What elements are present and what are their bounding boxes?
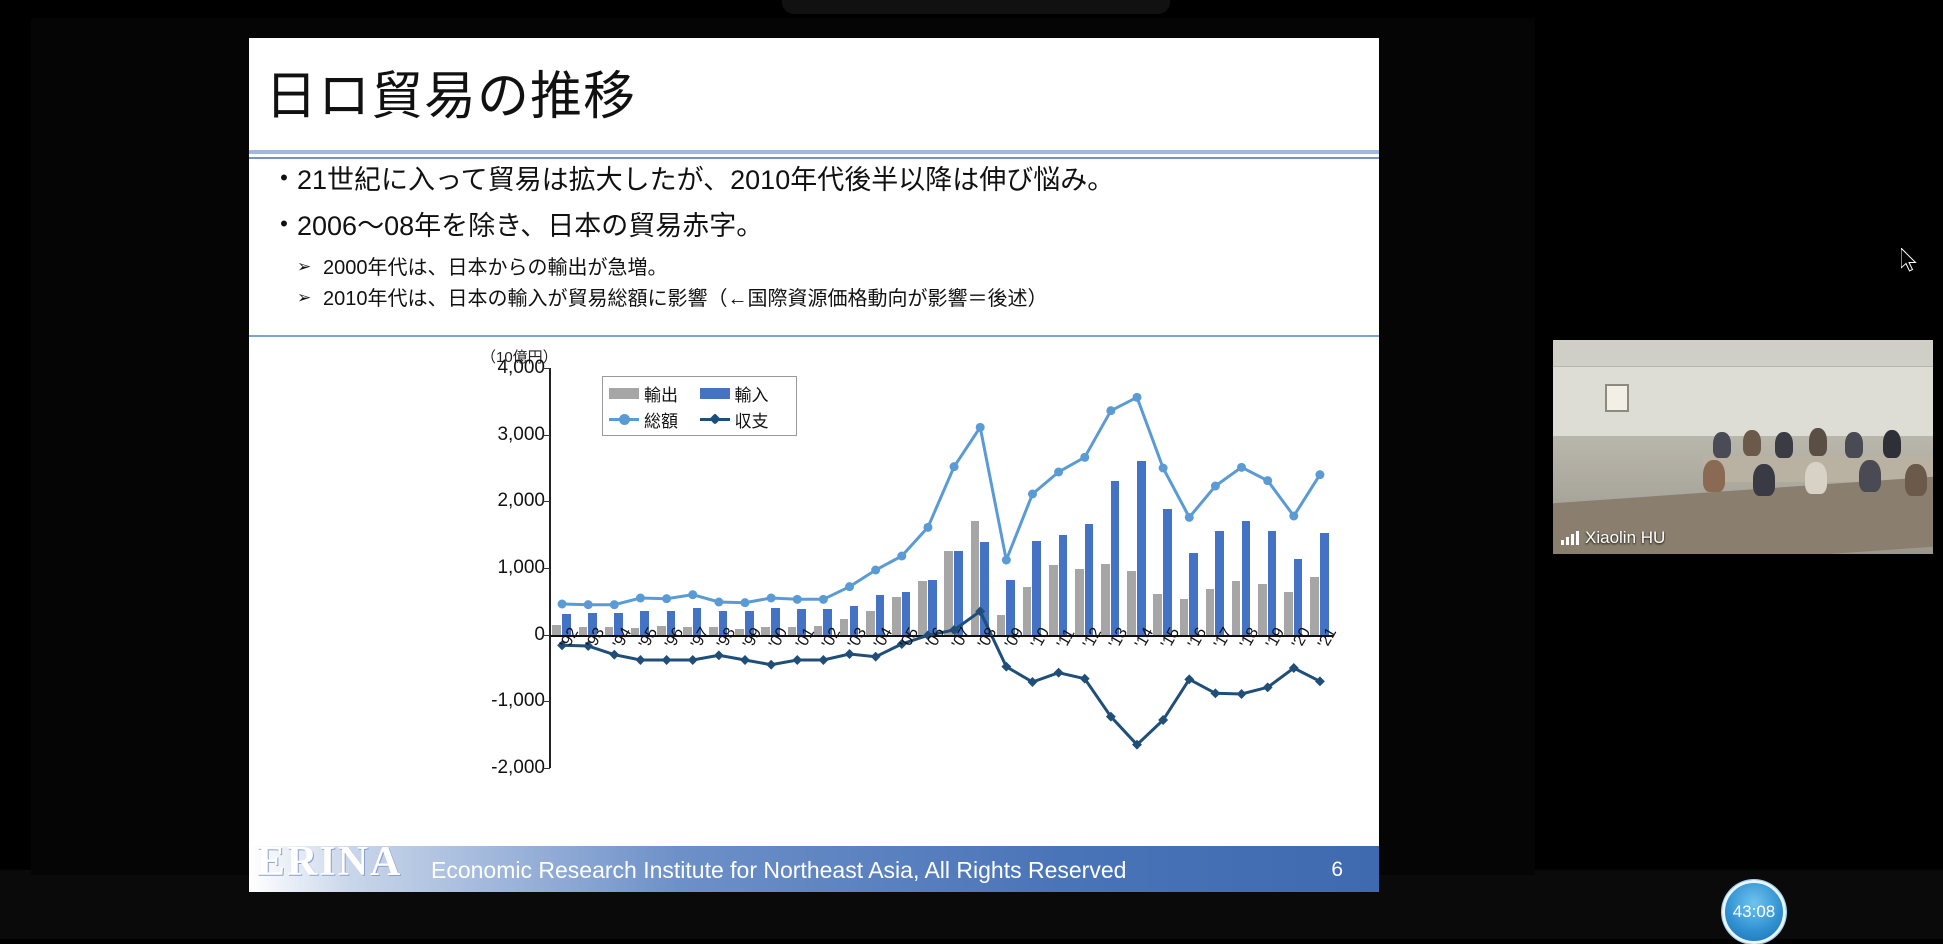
marker-総額: [976, 423, 985, 432]
footer-copyright: Economic Research Institute for Northeas…: [431, 857, 1126, 884]
wall-picture: [1605, 384, 1629, 412]
y-axis-tick-label: 4,000: [497, 357, 545, 379]
y-axis-tick: [543, 768, 550, 769]
meeting-toolbar-notch[interactable]: [782, 0, 1170, 14]
y-axis-tick-label: 1,000: [497, 557, 545, 579]
marker-総額: [1237, 463, 1246, 472]
marker-総額: [741, 598, 750, 607]
legend-swatch-icon: [700, 388, 730, 399]
shared-screen-panel[interactable]: 日ロ貿易の推移 • 21世紀に入って貿易は拡大したが、2010年代後半以降は伸び…: [31, 18, 1535, 875]
marker-総額: [1263, 476, 1272, 485]
legend-line-icon: [700, 413, 730, 425]
person: [1859, 460, 1881, 492]
marker-総額: [662, 594, 671, 603]
sub-bullet-text: 2010年代は、日本の輸入が貿易総額に影響（←国際資源価格動向が影響＝後述）: [323, 287, 1048, 312]
bullet-list: • 21世紀に入って貿易は拡大したが、2010年代後半以降は伸び悩み。 • 20…: [271, 164, 1371, 318]
marker-総額: [1211, 482, 1220, 491]
title-divider: [249, 150, 1379, 154]
marker-総額: [714, 598, 723, 607]
marker-総額: [1133, 393, 1142, 402]
chart-legend: 輸出輸入総額収支: [602, 376, 797, 436]
legend-item: 総額: [609, 406, 700, 432]
marker-総額: [1054, 468, 1063, 477]
room-ceiling: [1553, 340, 1933, 367]
y-axis-tick-label: 3,000: [497, 424, 545, 446]
meeting-timer[interactable]: 43:08: [1722, 880, 1786, 944]
marker-総額: [1002, 556, 1011, 565]
participant-video-tile[interactable]: Xiaolin HU: [1553, 340, 1933, 554]
y-axis-tick: [543, 635, 550, 636]
marker-総額: [1159, 464, 1168, 473]
legend-swatch-icon: [609, 388, 639, 399]
person: [1809, 428, 1827, 456]
marker-総額: [897, 552, 906, 561]
legend-label: 輸入: [735, 381, 769, 406]
arrow-bullet-icon: ➢: [297, 256, 323, 277]
marker-総額: [1080, 453, 1089, 462]
person: [1905, 464, 1927, 496]
y-axis-tick: [543, 435, 550, 436]
sub-bullet-item: ➢ 2010年代は、日本の輸入が貿易総額に影響（←国際資源価格動向が影響＝後述）: [271, 287, 1371, 312]
bullet-text: 2006〜08年を除き、日本の貿易赤字。: [297, 210, 763, 244]
person: [1703, 460, 1725, 492]
person: [1753, 464, 1775, 496]
participant-name: Xiaolin HU: [1585, 528, 1665, 548]
legend-item: 輸入: [700, 380, 791, 406]
legend-label: 収支: [735, 407, 769, 432]
marker-総額: [688, 590, 697, 599]
marker-総額: [1289, 512, 1298, 521]
bullet-item: • 21世紀に入って貿易は拡大したが、2010年代後半以降は伸び悩み。: [271, 164, 1371, 198]
marker-総額: [950, 462, 959, 471]
marker-総額: [845, 582, 854, 591]
person: [1883, 430, 1901, 458]
title-divider-thin: [249, 157, 1379, 159]
presentation-slide[interactable]: 日ロ貿易の推移 • 21世紀に入って貿易は拡大したが、2010年代後半以降は伸び…: [249, 38, 1379, 892]
bullet-text: 21世紀に入って貿易は拡大したが、2010年代後半以降は伸び悩み。: [297, 164, 1114, 198]
meeting-timer-value: 43:08: [1733, 902, 1776, 922]
person: [1713, 432, 1731, 458]
y-axis-tick-labels: 4,0003,0002,0001,0000-1,000-2,000: [475, 368, 545, 768]
content-divider: [249, 335, 1379, 337]
bullet-item: • 2006〜08年を除き、日本の貿易赤字。: [271, 210, 1371, 244]
x-axis-tick-labels: '92'93'94'95'96'97'98'99'00'01'02'03'04'…: [549, 639, 1333, 699]
y-axis-tick: [543, 368, 550, 369]
person: [1743, 430, 1761, 456]
person: [1845, 432, 1863, 458]
slide-footer: ERINA Economic Research Institute for No…: [249, 846, 1379, 892]
y-axis-tick-label: 2,000: [497, 490, 545, 512]
marker-総額: [793, 595, 802, 604]
trade-chart: （10億円） 4,0003,0002,0001,0000-1,000-2,000…: [249, 344, 1379, 834]
marker-総額: [558, 600, 567, 609]
marker-総額: [767, 594, 776, 603]
marker-総額: [923, 523, 932, 532]
video-frame: [1553, 340, 1933, 554]
slide-page-number: 6: [1331, 858, 1343, 882]
erina-logo: ERINA: [257, 838, 402, 886]
marker-総額: [1315, 470, 1324, 479]
legend-item: 収支: [700, 406, 791, 432]
marker-総額: [1185, 513, 1194, 522]
y-axis-tick-label: -2,000: [491, 757, 545, 779]
signal-bars-icon: [1561, 531, 1579, 545]
arrow-bullet-icon: ➢: [297, 287, 323, 308]
y-axis-tick: [543, 568, 550, 569]
screen-share-stage: 日ロ貿易の推移 • 21世紀に入って貿易は拡大したが、2010年代後半以降は伸び…: [0, 0, 1943, 870]
bullet-marker-icon: •: [271, 210, 297, 238]
marker-総額: [1028, 490, 1037, 499]
marker-総額: [1106, 406, 1115, 415]
y-axis-tick: [543, 701, 550, 702]
y-axis-tick: [543, 501, 550, 502]
marker-総額: [819, 595, 828, 604]
marker-総額: [584, 600, 593, 609]
marker-総額: [610, 600, 619, 609]
legend-label: 輸出: [644, 381, 678, 406]
legend-item: 輸出: [609, 380, 700, 406]
marker-総額: [636, 594, 645, 603]
sub-bullet-item: ➢ 2000年代は、日本からの輸出が急増。: [271, 256, 1371, 281]
legend-line-icon: [609, 413, 639, 425]
page-title: 日ロ貿易の推移: [265, 54, 1355, 140]
person: [1805, 462, 1827, 494]
bullet-marker-icon: •: [271, 164, 297, 192]
marker-総額: [871, 566, 880, 575]
participant-name-badge: Xiaolin HU: [1561, 528, 1665, 548]
y-axis-tick-label: -1,000: [491, 690, 545, 712]
sub-bullet-text: 2000年代は、日本からの輸出が急増。: [323, 256, 668, 281]
person: [1775, 432, 1793, 458]
legend-label: 総額: [644, 407, 678, 432]
zoom-meeting-screen: 日ロ貿易の推移 • 21世紀に入って貿易は拡大したが、2010年代後半以降は伸び…: [0, 0, 1943, 939]
